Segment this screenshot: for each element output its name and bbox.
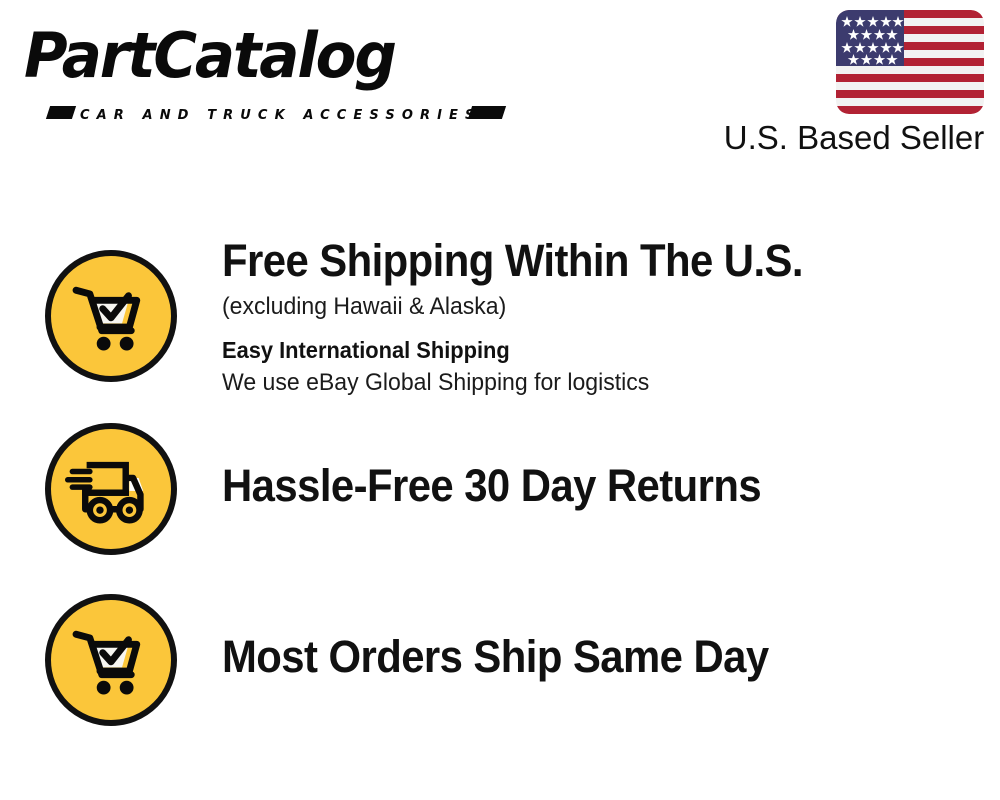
partcatalog-logo: PartCatalog CAR AND TRUCK ACCESSORIES (24, 22, 494, 114)
brand-tagline: CAR AND TRUCK ACCESSORIES (80, 108, 482, 123)
feature-title: Free Shipping Within The U.S. (222, 235, 927, 287)
shopping-cart-check-icon (45, 250, 177, 382)
feature-row: Most Orders Ship Same Day (0, 583, 1000, 753)
feature-text-block: Most Orders Ship Same Day (222, 631, 980, 683)
us-flag-icon (836, 10, 984, 114)
shipping-info-banner: PartCatalog CAR AND TRUCK ACCESSORIES (0, 0, 1000, 800)
us-based-seller-label: U.S. Based Seller (723, 119, 985, 157)
feature-title: Hassle-Free 30 Day Returns (222, 460, 927, 512)
feature-note: (excluding Hawaii & Alaska) (222, 292, 950, 322)
feature-title: Most Orders Ship Same Day (222, 631, 927, 683)
banner-header: PartCatalog CAR AND TRUCK ACCESSORIES (0, 0, 1000, 175)
brand-wordmark: PartCatalog (24, 22, 395, 90)
feature-row: Free Shipping Within The U.S. (excluding… (0, 235, 1000, 415)
delivery-truck-icon (45, 423, 177, 555)
feature-text-block: Hassle-Free 30 Day Returns (222, 460, 980, 512)
feature-text-block: Free Shipping Within The U.S. (excluding… (222, 235, 980, 398)
feature-sub-note: We use eBay Global Shipping for logistic… (222, 368, 950, 398)
shopping-cart-check-icon (45, 594, 177, 726)
tagline-slash-left-icon (46, 106, 76, 119)
tagline-slash-right-icon (468, 106, 506, 119)
feature-row: Hassle-Free 30 Day Returns (0, 412, 1000, 582)
feature-sub-title: Easy International Shipping (222, 336, 942, 364)
